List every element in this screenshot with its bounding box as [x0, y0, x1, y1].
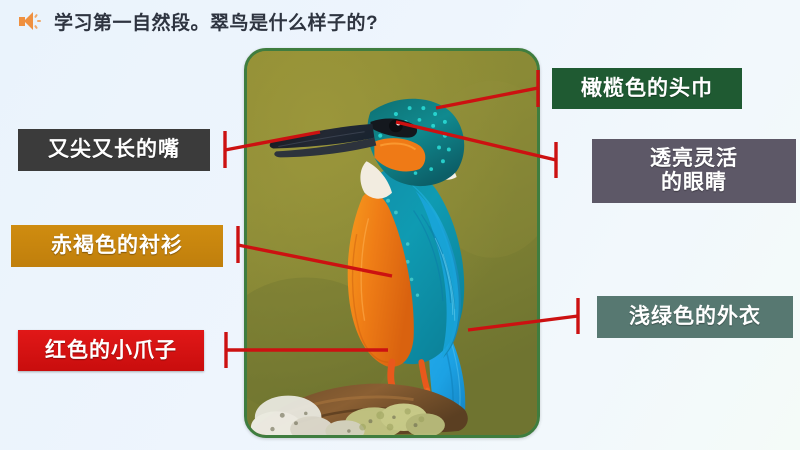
label-eyes-line-2: 的眼睛: [661, 171, 727, 195]
label-reddish-brown-shirt[interactable]: 赤褐色的衬衫: [11, 225, 223, 267]
label-sharp-long-beak[interactable]: 又尖又长的嘴: [18, 129, 210, 171]
kingfisher-photo-frame: [244, 48, 540, 438]
speaker-icon-cone: [24, 12, 33, 30]
label-eyes-line-1: 透亮灵活: [650, 147, 738, 171]
speaker-icon-wave-1: [34, 13, 38, 17]
slide-canvas: 学习第一自然段。翠鸟是什么样子的?: [0, 0, 800, 450]
label-red-claws[interactable]: 红色的小爪子: [18, 330, 204, 371]
slide-header: 学习第一自然段。翠鸟是什么样子的?: [18, 8, 378, 35]
label-olive-scarf[interactable]: 橄榄色的头巾: [552, 68, 742, 109]
kingfisher-photo: [247, 51, 537, 435]
speaker-icon-wave-2: [37, 20, 41, 22]
speaker-icon[interactable]: [18, 10, 44, 34]
label-bright-lively-eyes[interactable]: 透亮灵活 的眼睛: [592, 139, 796, 203]
label-light-green-coat[interactable]: 浅绿色的外衣: [597, 296, 793, 338]
speaker-icon-wave-3: [34, 24, 38, 28]
page-title: 学习第一自然段。翠鸟是什么样子的?: [54, 8, 378, 35]
